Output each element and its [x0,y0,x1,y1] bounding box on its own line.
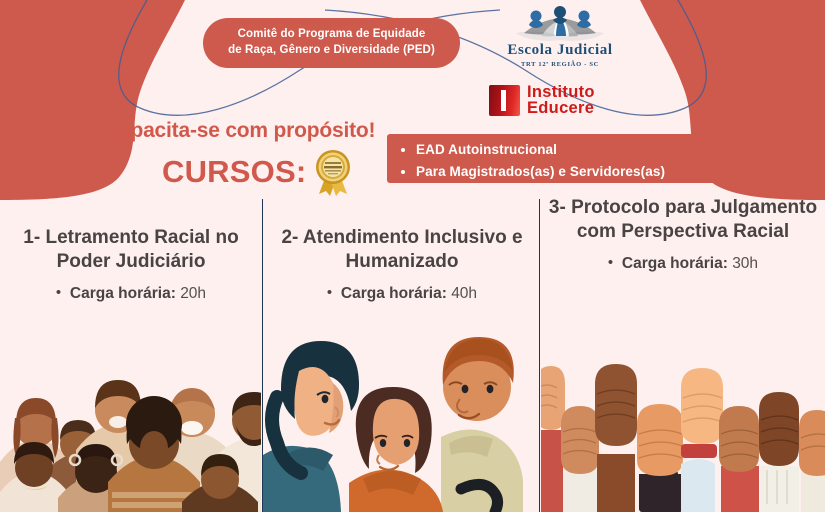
course-title: 3- Protocolo para Julgamento com Perspec… [545,196,821,243]
tagline: Capacita-se com propósito! [104,119,375,143]
escola-logo-subtitle: TRT 12ª REGIÃO - SC [496,61,624,68]
course-hours-value: 20h [180,285,206,302]
course-hours-item: Carga horária: 20h [56,284,206,304]
gold-quality-seal-icon [312,148,354,196]
highlight-item: Para Magistrados(as) e Servidores(as) [416,161,736,183]
course-hours-list: Carga horária: 20h [4,284,258,304]
course-hours-item: Carga horária: 40h [327,284,477,304]
course-title: 2- Atendimento Inclusivo e Humanizado [268,226,536,273]
course-hours-value: 40h [451,285,477,302]
escola-judicial-logo: Escola Judicial TRT 12ª REGIÃO - SC [496,6,624,70]
fist-figures [541,362,825,512]
course-hours-label: Carga horária: [622,255,728,272]
course-hours-label: Carga horária: [341,285,447,302]
cursos-heading-row: CURSOS: [162,148,354,196]
course-title: 1- Letramento Racial no Poder Judiciário [4,226,258,273]
committee-line-2: de Raça, Gênero e Diversidade (PED) [228,44,435,56]
people-over-book-icon [496,6,624,42]
course-hours-list: Carga horária: 40h [268,284,536,304]
committee-line-1: Comitê do Programa de Equidade [238,28,426,40]
educere-line-2: Educere [527,100,595,116]
course-column-1: 1- Letramento Racial no Poder Judiciário… [4,226,258,304]
crowd-figures [0,352,261,512]
course-hours-label: Carga horária: [70,285,176,302]
diverse-crowd-illustration [0,352,261,512]
escola-logo-name: Escola Judicial [496,43,624,58]
course-hours-list: Carga horária: 30h [545,254,821,274]
highlights-box: EAD Autoinstrucional Para Magistrados(as… [387,134,736,183]
course-column-3: 3- Protocolo para Julgamento com Perspec… [545,196,821,274]
course-column-2: 2- Atendimento Inclusivo e Humanizado Ca… [268,226,536,304]
course-promo-poster: Comitê do Programa de Equidade de Raça, … [0,0,825,512]
educere-line-1: Instituto [527,84,595,100]
course-hours-value: 30h [732,255,758,272]
instituto-educere-logo: Instituto Educere [489,82,631,118]
highlight-item: EAD Autoinstrucional [416,139,736,161]
highlights-list: EAD Autoinstrucional Para Magistrados(as… [400,139,736,183]
raised-fists-illustration [541,362,825,512]
red-square-i-icon [489,85,520,116]
committee-pill: Comitê do Programa de Equidade de Raça, … [203,18,460,68]
family-wheelchair-illustration [263,327,538,512]
family-figures [263,327,538,512]
course-hours-item: Carga horária: 30h [608,254,758,274]
cursos-label: CURSOS: [162,154,306,190]
